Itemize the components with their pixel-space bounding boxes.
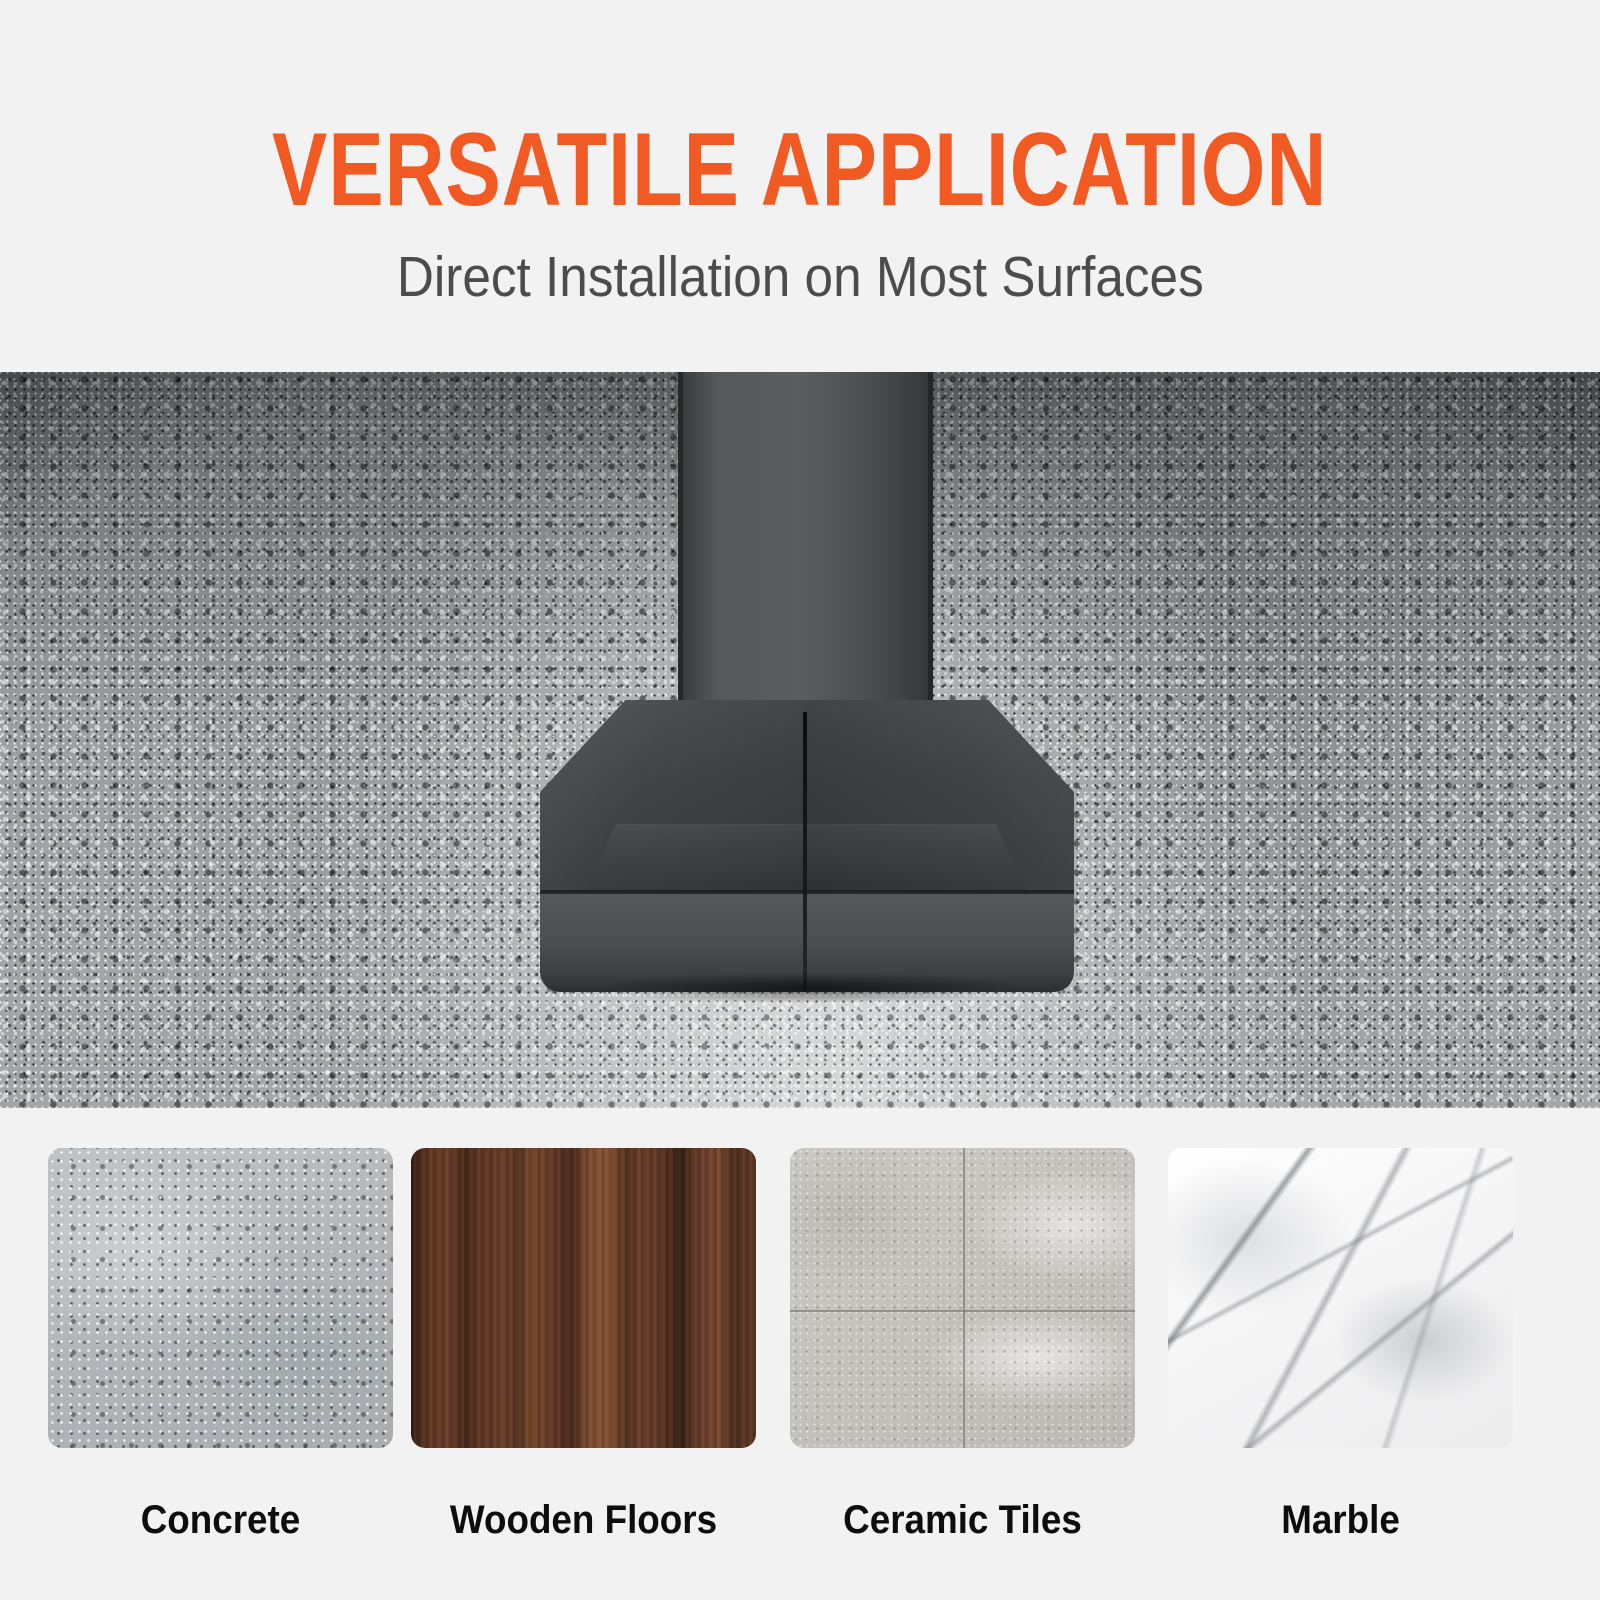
post-base-assembly xyxy=(0,372,1600,1108)
tile-grout-horizontal xyxy=(790,1310,1135,1312)
surface-label-marble: Marble xyxy=(1182,1498,1499,1543)
surface-item-marble[interactable]: Marble xyxy=(1168,1148,1513,1543)
page-subtitle: Direct Installation on Most Surfaces xyxy=(397,244,1204,310)
concrete-swatch-icon xyxy=(48,1148,393,1448)
tile-swatch-icon xyxy=(790,1148,1135,1448)
marble-swatch-icon xyxy=(1168,1148,1513,1448)
surface-label-concrete: Concrete xyxy=(62,1498,379,1543)
tile-grout-vertical xyxy=(963,1148,965,1448)
base-center-seam xyxy=(803,712,807,992)
surface-item-wooden-floors[interactable]: Wooden Floors xyxy=(411,1148,756,1543)
surface-label-wooden-floors: Wooden Floors xyxy=(425,1498,742,1543)
surface-label-ceramic-tiles: Ceramic Tiles xyxy=(804,1498,1121,1543)
page-title: VERSATILE APPLICATION xyxy=(272,118,1327,222)
wood-swatch-icon xyxy=(411,1148,756,1448)
base-ground-shadow xyxy=(512,968,1108,1008)
surface-item-concrete[interactable]: Concrete xyxy=(48,1148,393,1543)
surface-item-ceramic-tiles[interactable]: Ceramic Tiles xyxy=(790,1148,1135,1543)
product-feature-page: VERSATILE APPLICATION Direct Installatio… xyxy=(0,0,1600,1600)
surface-swatch-row: Concrete Wooden Floors Ceramic Tiles Mar… xyxy=(0,1108,1600,1600)
hero-product-photo xyxy=(0,372,1600,1108)
header-section: VERSATILE APPLICATION Direct Installatio… xyxy=(0,0,1600,372)
